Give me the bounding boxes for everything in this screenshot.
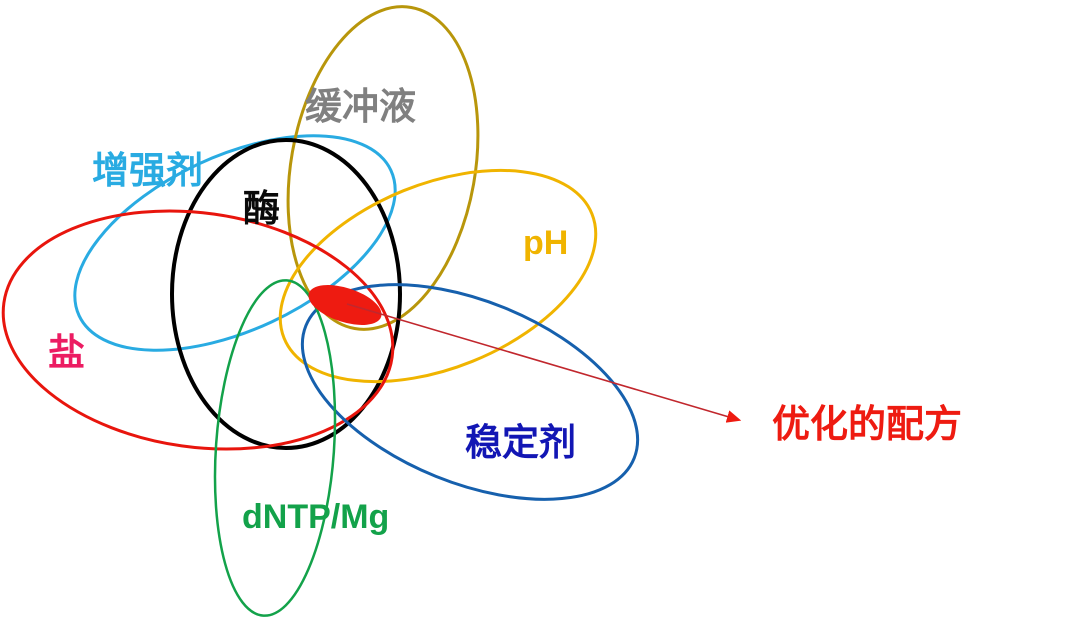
- venn-ellipses-svg: [0, 0, 1080, 628]
- label-enhancer: 增强剂: [92, 152, 203, 191]
- label-enzyme: 酶: [243, 190, 280, 229]
- label-optimized-formula: 优化的配方: [772, 406, 962, 446]
- label-buffer: 缓冲液: [305, 88, 416, 127]
- callout-arrow-line: [347, 304, 729, 417]
- ellipse-salt: [0, 187, 408, 473]
- label-stabilizer: 稳定剂: [465, 424, 576, 463]
- label-salt: 盐: [48, 334, 85, 373]
- label-dntp-mg: dNTP/Mg: [242, 500, 420, 536]
- ellipse-enhancer: [42, 91, 427, 394]
- venn-diagram-canvas: 增强剂 缓冲液 酶 pH 盐 稳定剂 dNTP/Mg 优化的配方: [0, 0, 1080, 628]
- label-ph: pH: [523, 226, 568, 262]
